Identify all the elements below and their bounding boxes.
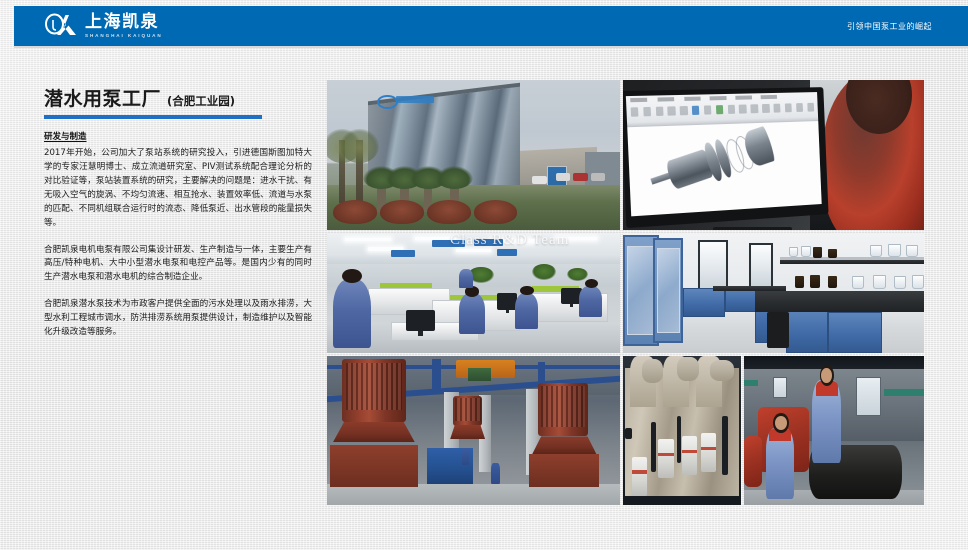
- slide-root: 上海凯泉 SHANGHAI KAIQUAN 引领中国泵工业的崛起 潜水用泵工厂 …: [0, 0, 968, 550]
- brand-logo-text: 上海凯泉 SHANGHAI KAIQUAN: [85, 14, 163, 39]
- collage-row-2: Class R&D Team: [327, 233, 924, 353]
- body-paragraph-2: 合肥凯泉电机电泵有限公司集设计研发、生产制造与一体，主要生产有高压/特种电机、大…: [44, 244, 312, 286]
- collage-row-3: [327, 356, 924, 505]
- section-heading: 研发与制造: [44, 130, 312, 142]
- brand-logo[interactable]: 上海凯泉 SHANGHAI KAIQUAN: [44, 13, 163, 39]
- brand-name-cn: 上海凯泉: [85, 14, 163, 31]
- photo-assembly-workers: [744, 356, 924, 505]
- photo-diesel-engine: [623, 356, 741, 505]
- header-tagline: 引领中国泵工业的崛起: [847, 21, 932, 32]
- title-subtitle: (合肥工业园): [167, 93, 235, 109]
- photo-collage: Class R&D Team: [327, 80, 924, 505]
- photo-office: Class R&D Team: [327, 233, 620, 353]
- photo-headquarters: [327, 80, 620, 230]
- collage-row-1: [327, 80, 924, 230]
- photo-overlay-text: Class R&D Team: [450, 233, 569, 249]
- page-title: 潜水用泵工厂 (合肥工业园): [44, 84, 312, 111]
- body-paragraph-1: 2017年开始，公司加大了泵站系统的研究投入，引进德国斯图加特大学的专家汪慧明博…: [44, 147, 312, 231]
- photo-laboratory: [623, 233, 924, 353]
- building-logo-icon: [377, 94, 441, 108]
- body-paragraph-3: 合肥凯泉潜水泵技术为市政客户提供全面的污水处理以及雨水排涝，大型水利工程城市调水…: [44, 298, 312, 340]
- title-underline: [44, 115, 262, 119]
- brand-name-en: SHANGHAI KAIQUAN: [85, 34, 163, 39]
- title-main: 潜水用泵工厂: [44, 84, 161, 111]
- text-column: 潜水用泵工厂 (合肥工业园) 研发与制造 2017年开始，公司加大了泵站系统的研…: [44, 84, 312, 340]
- photo-large-pumps: [327, 356, 620, 505]
- header-bar: 上海凯泉 SHANGHAI KAIQUAN 引领中国泵工业的崛起: [14, 6, 968, 46]
- kaiquan-logo-icon: [44, 13, 78, 39]
- header-divider: [14, 46, 968, 48]
- photo-cad-design: [623, 80, 924, 230]
